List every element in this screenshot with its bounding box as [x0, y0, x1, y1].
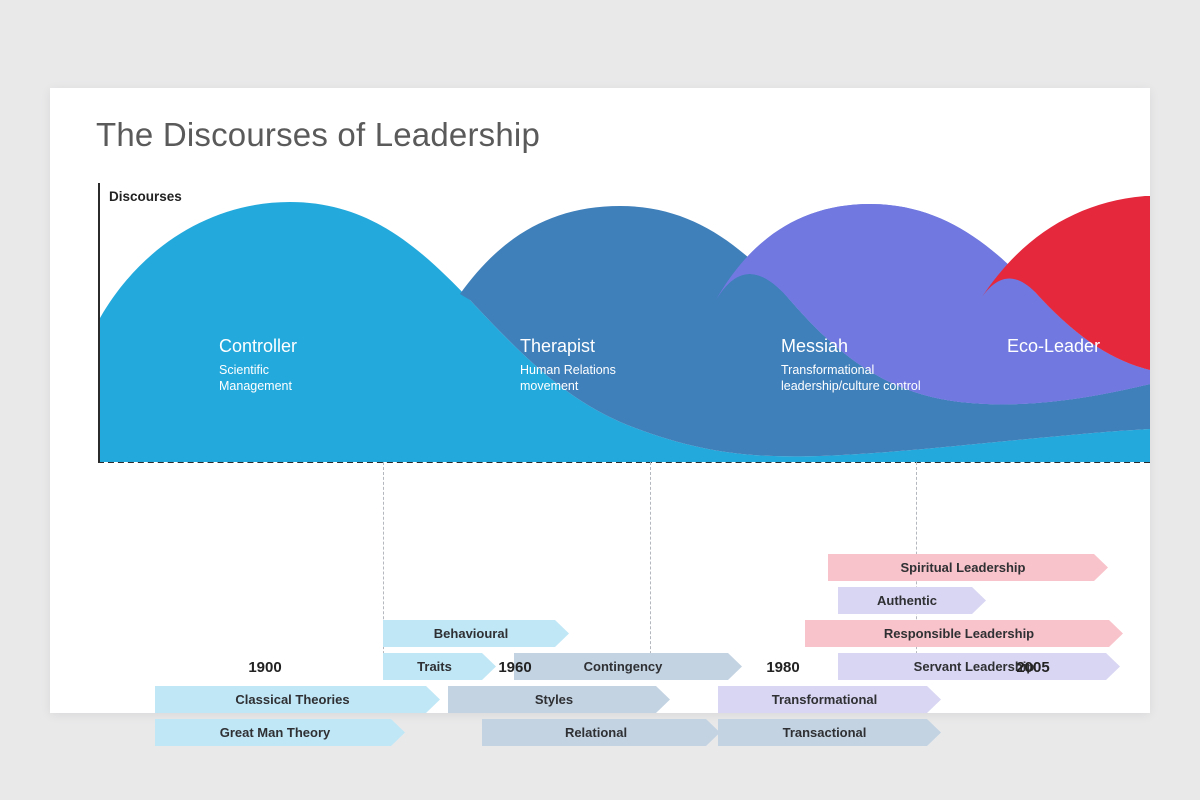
- timeline-year-2005: 2005: [1016, 659, 1049, 676]
- timeline-bar-label: Styles: [535, 692, 583, 707]
- timeline-bar[interactable]: Classical Theories: [155, 686, 440, 713]
- timeline-bar-label: Transactional: [783, 725, 877, 740]
- timeline-year-1960: 1960: [498, 659, 531, 676]
- timeline-bar-label: Spiritual Leadership: [901, 560, 1036, 575]
- timeline-bar[interactable]: Behavioural: [383, 620, 569, 647]
- timeline-bar[interactable]: Traits: [383, 653, 496, 680]
- timeline-gridline-1: [650, 462, 651, 674]
- timeline-bar-label: Great Man Theory: [220, 725, 341, 740]
- slide-canvas: The Discourses of Leadership Discourses: [0, 0, 1200, 800]
- timeline-bar-label: Contingency: [584, 659, 673, 674]
- timeline-bar[interactable]: Relational: [482, 719, 720, 746]
- timeline-bar[interactable]: Transformational: [718, 686, 941, 713]
- timeline-bar[interactable]: Servant Leadership: [838, 653, 1120, 680]
- timeline-bar[interactable]: Spiritual Leadership: [828, 554, 1108, 581]
- timeline-bar[interactable]: Great Man Theory: [155, 719, 405, 746]
- discourses-wave-chart: [100, 188, 1150, 462]
- timeline-bar[interactable]: Transactional: [718, 719, 941, 746]
- page-title: The Discourses of Leadership: [96, 116, 540, 154]
- theories-timeline: Theories Spiritual LeadershipAuthenticBe…: [50, 462, 1150, 712]
- timeline-bar[interactable]: Contingency: [514, 653, 742, 680]
- timeline-bar-label: Responsible Leadership: [884, 626, 1044, 641]
- timeline-bar-label: Behavioural: [434, 626, 518, 641]
- timeline-bar[interactable]: Authentic: [838, 587, 986, 614]
- timeline-bar-label: Transformational: [772, 692, 887, 707]
- timeline-year-1980: 1980: [766, 659, 799, 676]
- timeline-bar-label: Authentic: [877, 593, 947, 608]
- timeline-bar-label: Traits: [417, 659, 462, 674]
- timeline-bar-label: Relational: [565, 725, 637, 740]
- presentation-slide: The Discourses of Leadership Discourses: [50, 88, 1150, 713]
- timeline-bar-label: Classical Theories: [235, 692, 359, 707]
- timeline-year-1900: 1900: [248, 659, 281, 676]
- timeline-bar[interactable]: Responsible Leadership: [805, 620, 1123, 647]
- timeline-bar[interactable]: Styles: [448, 686, 670, 713]
